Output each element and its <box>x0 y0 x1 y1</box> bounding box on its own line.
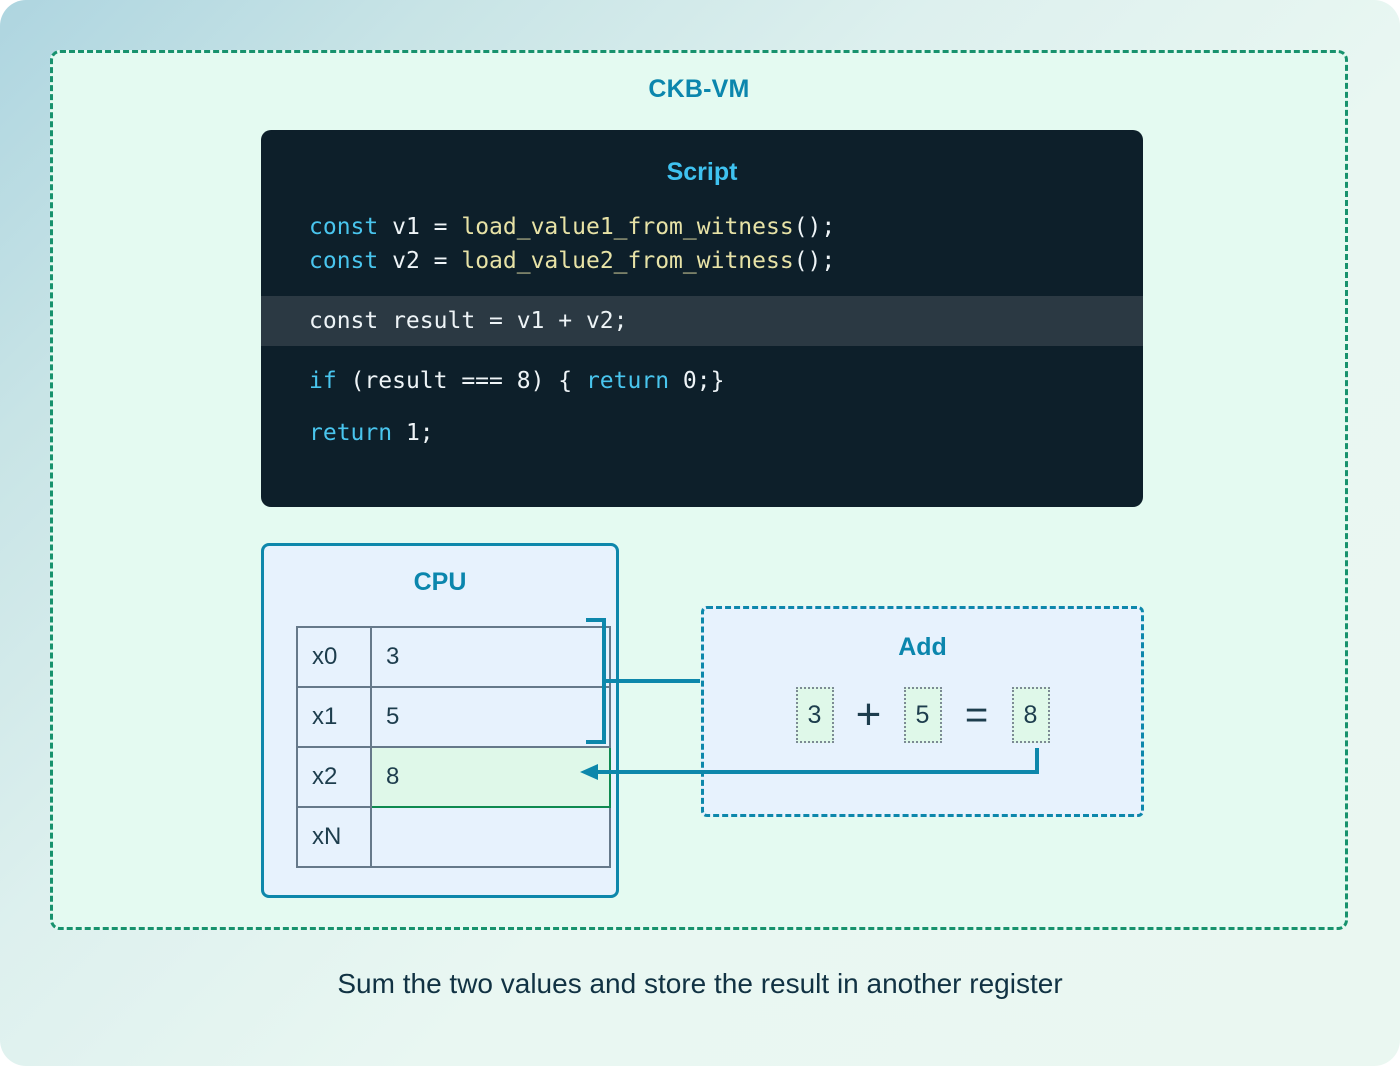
diagram-canvas: CKB-VM Script const v1 = load_value1_fro… <box>0 0 1400 1066</box>
table-row-active: x2 8 <box>297 747 610 807</box>
code-spacer-3 <box>261 398 1143 416</box>
code-token: return <box>309 420 392 446</box>
code-token: (); <box>794 214 836 240</box>
register-value <box>371 807 610 867</box>
code-spacer-2 <box>261 346 1143 364</box>
add-box: Add 3 + 5 = 8 <box>701 606 1144 817</box>
table-row: xN <box>297 807 610 867</box>
code-token: (result === 8) { <box>337 368 586 394</box>
code-token: load_value1_from_witness <box>461 214 793 240</box>
add-title: Add <box>704 633 1141 662</box>
code-token: 0;} <box>669 368 724 394</box>
code-line-5: return 1; <box>261 416 1143 450</box>
code-token: if <box>309 368 337 394</box>
register-table: x0 3 x1 5 x2 8 xN <box>296 626 611 868</box>
script-code-area: const v1 = load_value1_from_witness(); c… <box>261 210 1143 450</box>
code-token: const result = v1 + v2; <box>309 308 628 334</box>
table-row: x0 3 <box>297 627 610 687</box>
plus-icon: + <box>846 693 892 737</box>
code-line-1: const v1 = load_value1_from_witness(); <box>261 210 1143 244</box>
register-value: 5 <box>371 687 610 747</box>
code-token: load_value2_from_witness <box>461 248 793 274</box>
register-value-highlighted: 8 <box>371 747 610 807</box>
ckb-vm-frame: CKB-VM Script const v1 = load_value1_fro… <box>50 50 1348 930</box>
code-line-4: if (result === 8) { return 0;} <box>261 364 1143 398</box>
register-name: x0 <box>297 627 371 687</box>
script-title: Script <box>261 158 1143 187</box>
equals-icon: = <box>954 693 1000 737</box>
table-row: x1 5 <box>297 687 610 747</box>
addend-a: 3 <box>796 687 834 743</box>
code-token: return <box>586 368 669 394</box>
code-token: v2 = <box>378 248 461 274</box>
register-name: x1 <box>297 687 371 747</box>
script-panel: Script const v1 = load_value1_from_witne… <box>261 130 1143 507</box>
ckb-vm-title: CKB-VM <box>53 75 1345 104</box>
code-spacer-1 <box>261 278 1143 296</box>
register-value: 3 <box>371 627 610 687</box>
register-name: xN <box>297 807 371 867</box>
cpu-box: CPU x0 3 x1 5 x2 8 xN <box>261 543 619 898</box>
code-line-2: const v2 = load_value2_from_witness(); <box>261 244 1143 278</box>
code-token: 1; <box>392 420 434 446</box>
code-token: const <box>309 214 378 240</box>
code-token: v1 = <box>378 214 461 240</box>
code-token: const <box>309 248 378 274</box>
register-table-body: x0 3 x1 5 x2 8 xN <box>297 627 610 867</box>
sum-result: 8 <box>1012 687 1050 743</box>
code-token: (); <box>794 248 836 274</box>
addend-b: 5 <box>904 687 942 743</box>
code-line-3-highlighted: const result = v1 + v2; <box>261 296 1143 346</box>
add-expression: 3 + 5 = 8 <box>704 687 1141 743</box>
register-name: x2 <box>297 747 371 807</box>
diagram-caption: Sum the two values and store the result … <box>0 968 1400 1000</box>
cpu-title: CPU <box>264 568 616 597</box>
